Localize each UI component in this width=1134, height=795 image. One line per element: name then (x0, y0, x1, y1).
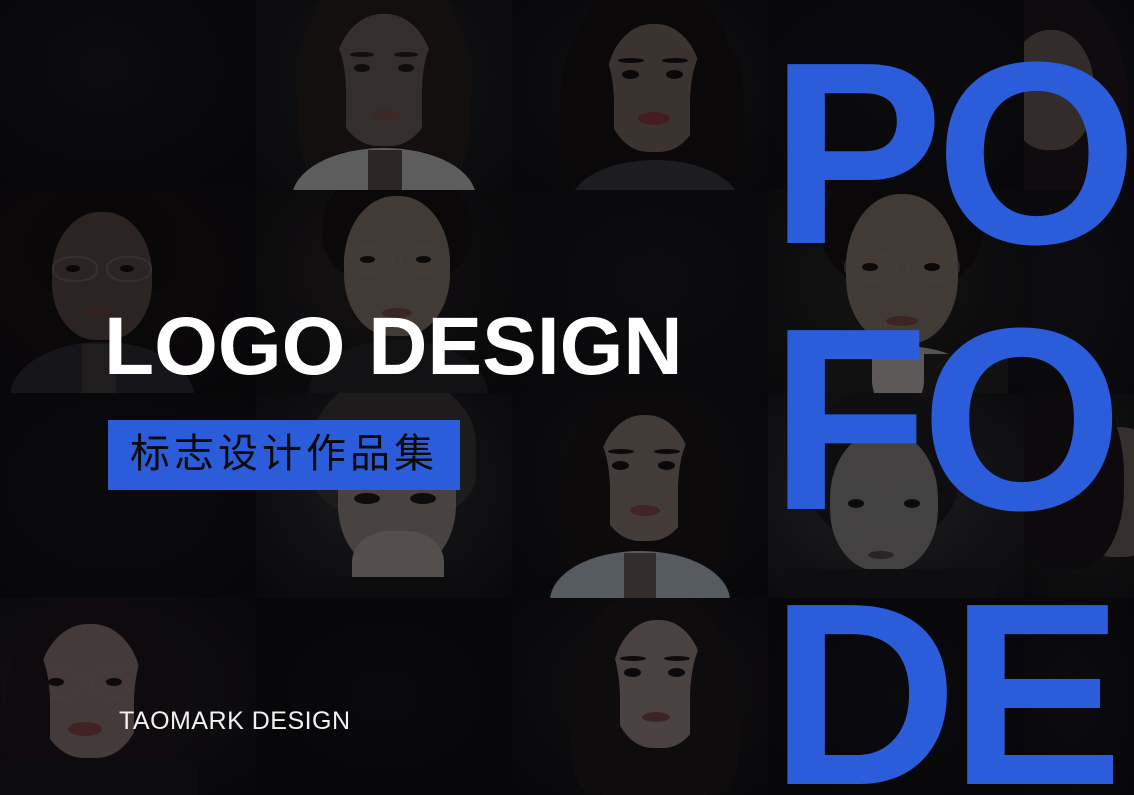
subtitle-badge: 标志设计作品集 (108, 420, 460, 490)
page-title: LOGO DESIGN (104, 306, 683, 388)
poster-canvas: PO FO DE LOGO DESIGN 标志设计作品集 TAOMARK DES… (0, 0, 1134, 795)
photo-darkening-overlay (0, 0, 1134, 795)
brand-name: TAOMARK DESIGN (119, 707, 351, 736)
